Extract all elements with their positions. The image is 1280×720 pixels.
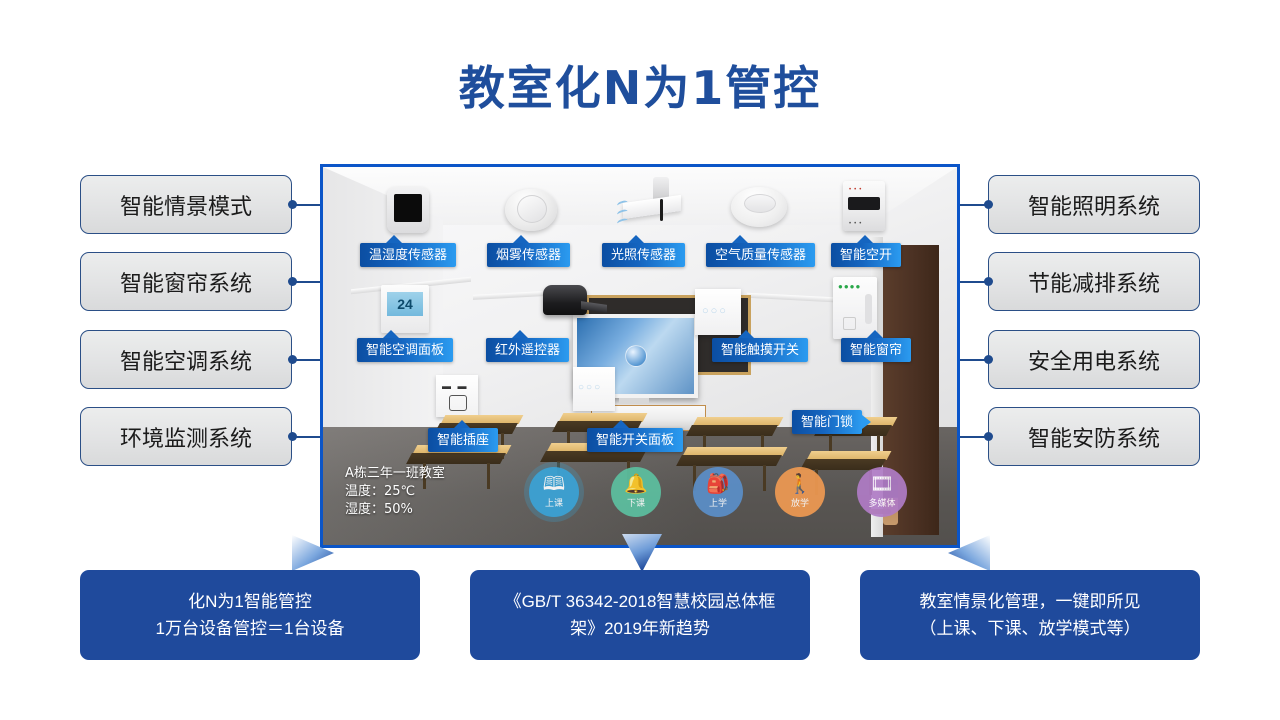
summary-line-2: 架》2019年新趋势 <box>505 615 776 642</box>
badge-pointer-icon <box>857 235 873 243</box>
badge-smart-socket[interactable]: 智能插座 <box>428 428 498 452</box>
summary-line-2: 1万台设备管控＝1台设备 <box>156 615 345 642</box>
badge-smart-breaker[interactable]: 智能空开 <box>831 243 901 267</box>
connector-dot-right-4b <box>984 432 993 441</box>
scene-button-class-start[interactable]: 🕮 上课 <box>529 467 579 517</box>
smart-breaker-icon: •••••• <box>843 181 885 231</box>
ac-control-panel-icon: 24 <box>381 285 429 333</box>
room-temperature: 温度：25℃ <box>345 483 445 501</box>
scene-button-school-arrival[interactable]: 🎒 上学 <box>693 467 743 517</box>
sidebar-item-energy-saving-system[interactable]: 节能减排系统 <box>988 252 1200 311</box>
scene-label: 下课 <box>627 496 645 509</box>
room-name: A栋三年一班教室 <box>345 465 445 483</box>
badge-pointer-icon <box>613 420 629 428</box>
badge-light-sensor[interactable]: 光照传感器 <box>602 243 685 267</box>
badge-label: 空气质量传感器 <box>715 247 806 262</box>
air-quality-sensor-icon <box>731 187 787 227</box>
sidebar-item-lighting-system[interactable]: 智能照明系统 <box>988 175 1200 234</box>
touch-switch-icon: ○○○ <box>695 289 741 335</box>
badge-temperature-humidity-sensor[interactable]: 温湿度传感器 <box>360 243 456 267</box>
badge-label: 智能触摸开关 <box>721 342 799 357</box>
badge-label: 智能空调面板 <box>366 342 444 357</box>
temperature-humidity-sensor-icon <box>387 187 429 233</box>
summary-line-2: （上课、下课、放学模式等） <box>920 615 1141 642</box>
badge-label: 智能窗帘 <box>850 342 902 357</box>
room-info-overlay: A栋三年一班教室 温度：25℃ 湿度：50% <box>345 465 445 519</box>
connector-dot-right-3b <box>984 355 993 364</box>
sidebar-item-label: 智能情景模式 <box>120 189 252 221</box>
badge-label: 智能插座 <box>437 432 489 447</box>
screen-stand <box>619 398 649 404</box>
sidebar-item-environment-system[interactable]: 环境监测系统 <box>80 407 292 466</box>
summary-line-1: 《GB/T 36342-2018智慧校园总体框 <box>505 588 776 615</box>
scene-button-school-leave[interactable]: 🚶 放学 <box>775 467 825 517</box>
connector-dot-right-1b <box>984 200 993 209</box>
badge-ac-panel[interactable]: 智能空调面板 <box>357 338 453 362</box>
badge-label: 智能门锁 <box>801 414 853 429</box>
badge-pointer-icon <box>867 330 883 338</box>
badge-label: 智能空开 <box>840 247 892 262</box>
infrared-remote-icon <box>543 285 587 315</box>
summary-box-scene-management[interactable]: 教室情景化管理，一键即所见 （上课、下课、放学模式等） <box>860 570 1200 660</box>
sidebar-item-label: 节能减排系统 <box>1028 266 1160 298</box>
smart-socket-icon: ▬ ▬ <box>436 375 478 417</box>
badge-pointer-icon <box>454 420 470 428</box>
badge-label: 光照传感器 <box>611 247 676 262</box>
badge-pointer-icon <box>513 235 529 243</box>
light-waves-icon <box>617 201 628 228</box>
badge-air-quality-sensor[interactable]: 空气质量传感器 <box>706 243 815 267</box>
connector-dot-right-2b <box>984 277 993 286</box>
bell-icon: 🔔 <box>624 475 648 495</box>
summary-box-control[interactable]: 化N为1智能管控 1万台设备管控＝1台设备 <box>80 570 420 660</box>
badge-infrared-remote[interactable]: 红外遥控器 <box>486 338 569 362</box>
sidebar-item-label: 智能照明系统 <box>1028 189 1160 221</box>
badge-label: 烟雾传感器 <box>496 247 561 262</box>
scene-label: 放学 <box>791 496 809 509</box>
arrow-right-icon <box>946 533 990 573</box>
badge-pointer-icon <box>512 330 528 338</box>
summary-line-1: 化N为1智能管控 <box>156 588 345 615</box>
connector-dot-left-4a <box>288 432 297 441</box>
badge-smoke-sensor[interactable]: 烟雾传感器 <box>487 243 570 267</box>
arrow-down-icon <box>620 533 664 573</box>
book-icon: 🕮 <box>543 475 565 495</box>
badge-pointer-icon <box>628 235 644 243</box>
smart-switch-panel-icon: ○○○ <box>573 367 615 411</box>
backpack-icon: 🎒 <box>706 475 730 495</box>
sidebar-item-label: 智能窗帘系统 <box>120 266 252 298</box>
badge-smart-switch-panel[interactable]: 智能开关面板 <box>587 428 683 452</box>
walking-person-icon: 🚶 <box>788 475 812 495</box>
summary-line-1: 教室情景化管理，一键即所见 <box>920 588 1141 615</box>
film-icon: 🎞 <box>870 475 894 495</box>
ac-panel-value: 24 <box>387 292 423 316</box>
scene-label: 上课 <box>545 496 563 509</box>
connector-dot-left-2a <box>288 277 297 286</box>
badge-touch-switch[interactable]: 智能触摸开关 <box>712 338 808 362</box>
room-humidity: 湿度：50% <box>345 501 445 519</box>
summary-box-standard[interactable]: 《GB/T 36342-2018智慧校园总体框 架》2019年新趋势 <box>470 570 810 660</box>
sidebar-item-label: 智能空调系统 <box>120 344 252 376</box>
connector-dot-left-3a <box>288 355 297 364</box>
sidebar-item-label: 环境监测系统 <box>120 421 252 453</box>
scene-button-multimedia[interactable]: 🎞 多媒体 <box>857 467 907 517</box>
sidebar-item-label: 智能安防系统 <box>1028 421 1160 453</box>
arrow-left-icon <box>292 533 336 573</box>
light-sensor-icon <box>623 177 685 229</box>
badge-pointer-icon <box>862 415 871 429</box>
page-title: 教室化N为1管控 <box>0 52 1280 118</box>
sidebar-item-curtain-system[interactable]: 智能窗帘系统 <box>80 252 292 311</box>
scene-label: 上学 <box>709 496 727 509</box>
scene-label: 多媒体 <box>868 496 895 509</box>
badge-label: 温湿度传感器 <box>369 247 447 262</box>
badge-label: 智能开关面板 <box>596 432 674 447</box>
sidebar-item-security-system[interactable]: 智能安防系统 <box>988 407 1200 466</box>
sidebar-item-electrical-safety-system[interactable]: 安全用电系统 <box>988 330 1200 389</box>
badge-pointer-icon <box>732 235 748 243</box>
badge-pointer-icon <box>386 235 402 243</box>
badge-pointer-icon <box>383 330 399 338</box>
sidebar-item-scene-mode[interactable]: 智能情景模式 <box>80 175 292 234</box>
scene-button-class-end[interactable]: 🔔 下课 <box>611 467 661 517</box>
badge-smart-curtain[interactable]: 智能窗帘 <box>841 338 911 362</box>
screen-orb-icon <box>625 345 647 367</box>
badge-label: 红外遥控器 <box>495 342 560 357</box>
sidebar-item-ac-system[interactable]: 智能空调系统 <box>80 330 292 389</box>
smoke-sensor-icon <box>505 189 557 231</box>
badge-pointer-icon <box>738 330 754 338</box>
badge-smart-lock[interactable]: 智能门锁 <box>792 410 862 434</box>
sidebar-item-label: 安全用电系统 <box>1028 344 1160 376</box>
connector-dot-left-1a <box>288 200 297 209</box>
